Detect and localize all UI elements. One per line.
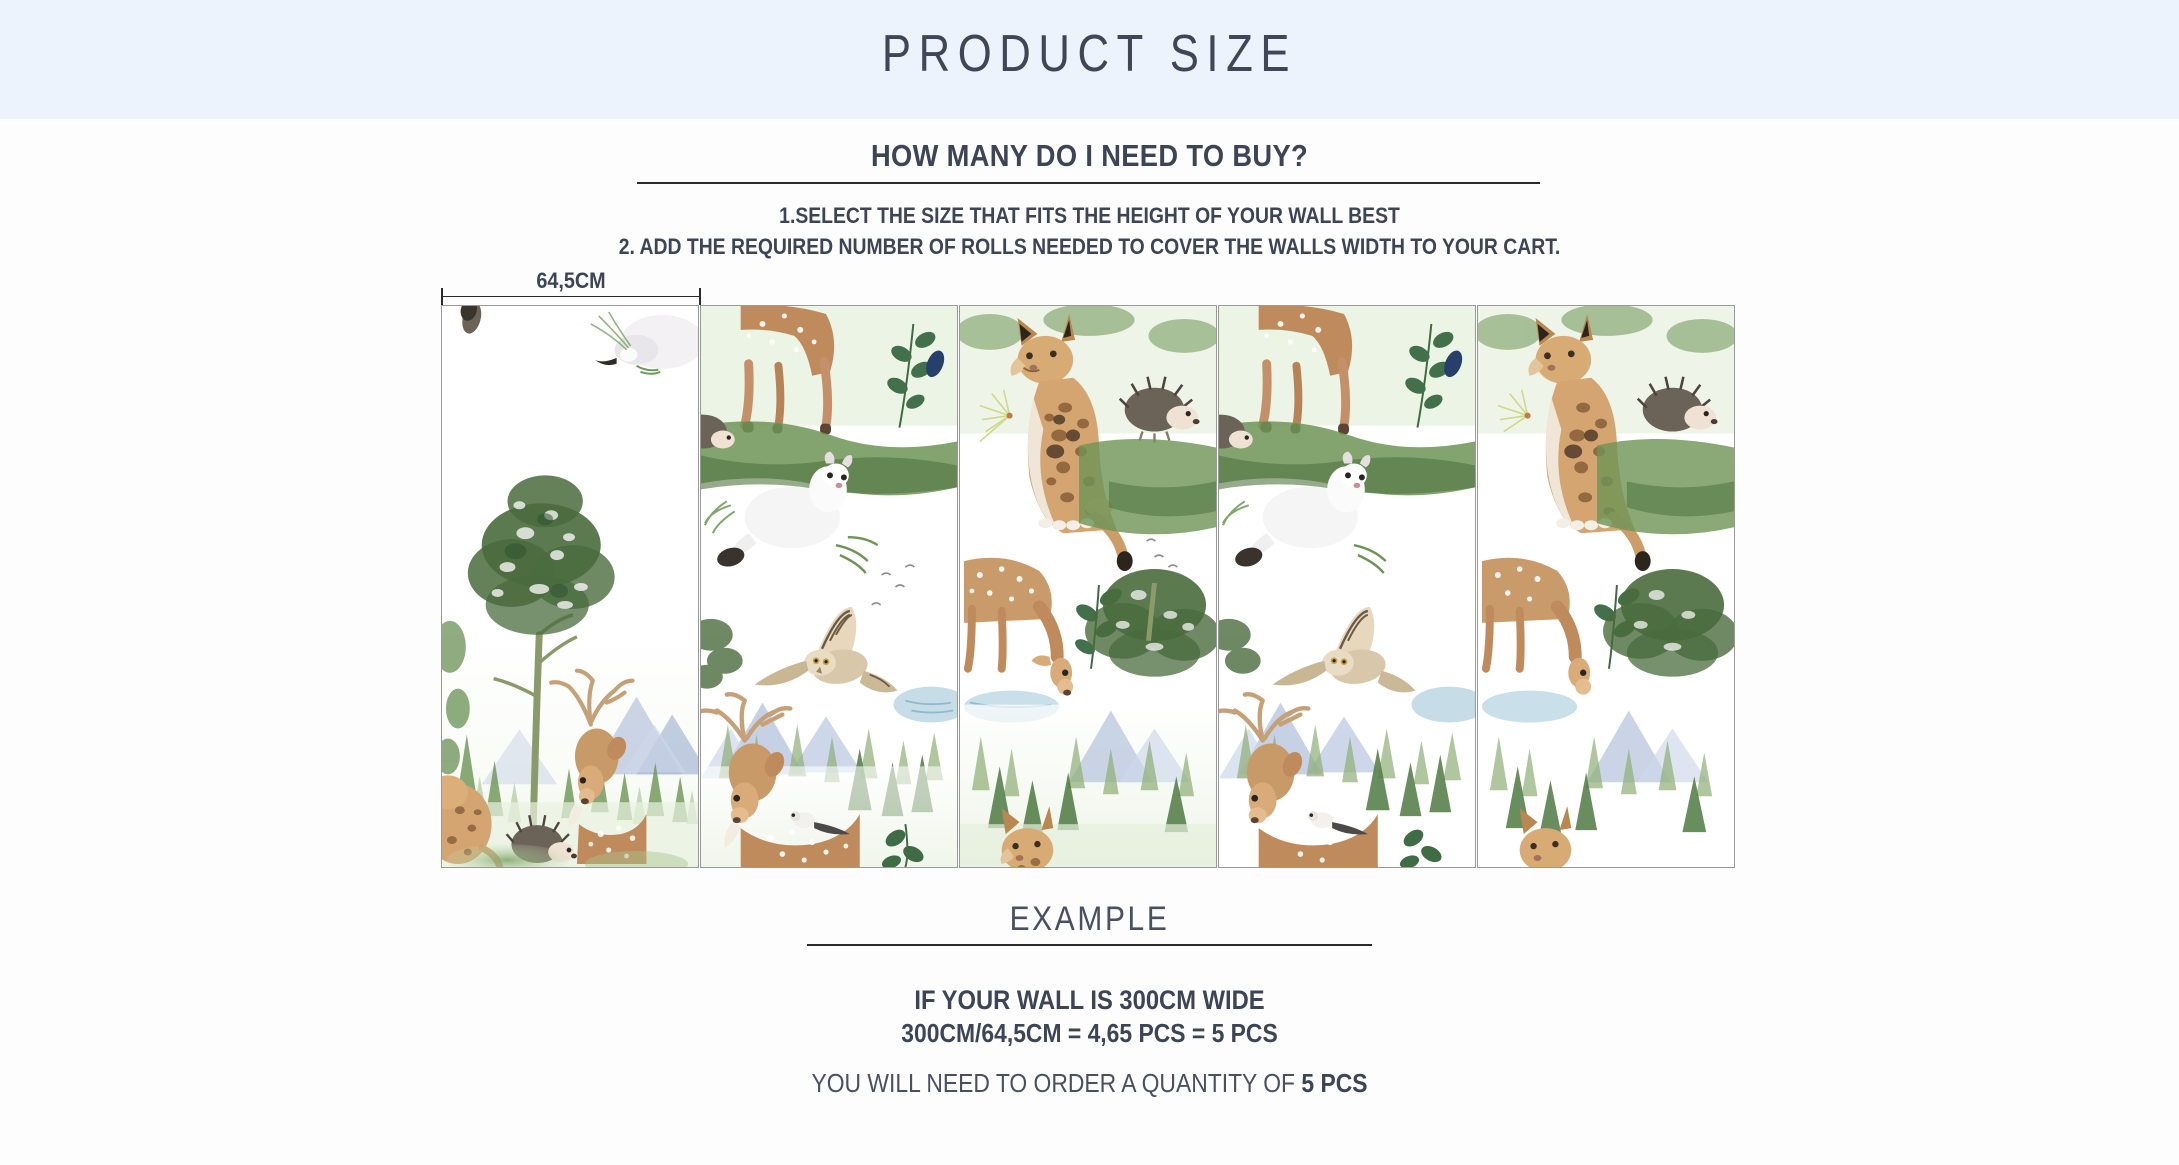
dimension-cap-right: [699, 288, 701, 305]
woodland-pattern-c: [960, 306, 1216, 867]
page-title: PRODUCT SIZE: [174, 24, 2004, 84]
example-order-quantity: YOU WILL NEED TO ORDER A QUANTITY OF 5 P…: [131, 1068, 2049, 1099]
example-wall-width: IF YOUR WALL IS 300CM WIDE: [131, 985, 2049, 1016]
woodland-pattern-b-repeat: [1219, 306, 1475, 867]
order-prefix-text: YOU WILL NEED TO ORDER A QUANTITY OF: [811, 1068, 1301, 1098]
instruction-step-1: 1.SELECT THE SIZE THAT FITS THE HEIGHT O…: [131, 203, 2049, 229]
dimension-cap-left: [441, 288, 443, 305]
wallpaper-panel-2[interactable]: [700, 305, 958, 868]
woodland-pattern-a: [442, 306, 698, 867]
roll-width-label: 64,5CM: [453, 268, 689, 294]
product-size-infographic: PRODUCT SIZE HOW MANY DO I NEED TO BUY? …: [0, 0, 2179, 1165]
wallpaper-panel-5[interactable]: [1477, 305, 1735, 868]
example-title: EXAMPLE: [131, 900, 2049, 939]
instruction-step-2: 2. ADD THE REQUIRED NUMBER OF ROLLS NEED…: [131, 234, 2049, 260]
dimension-line: [441, 296, 701, 297]
heading-divider: [637, 182, 1540, 184]
woodland-pattern-b: [701, 306, 957, 867]
wallpaper-panel-3[interactable]: [959, 305, 1217, 868]
example-divider: [807, 944, 1372, 946]
wallpaper-panel-4[interactable]: [1218, 305, 1476, 868]
wallpaper-panel-row: [0, 305, 2179, 870]
instructions-heading: HOW MANY DO I NEED TO BUY?: [131, 138, 2049, 174]
example-calculation: 300CM/64,5CM = 4,65 PCS = 5 PCS: [131, 1018, 2049, 1049]
woodland-pattern-c-repeat: [1478, 306, 1734, 867]
wallpaper-panel-1[interactable]: [441, 305, 699, 868]
order-quantity-value: 5 PCS: [1301, 1068, 1367, 1098]
